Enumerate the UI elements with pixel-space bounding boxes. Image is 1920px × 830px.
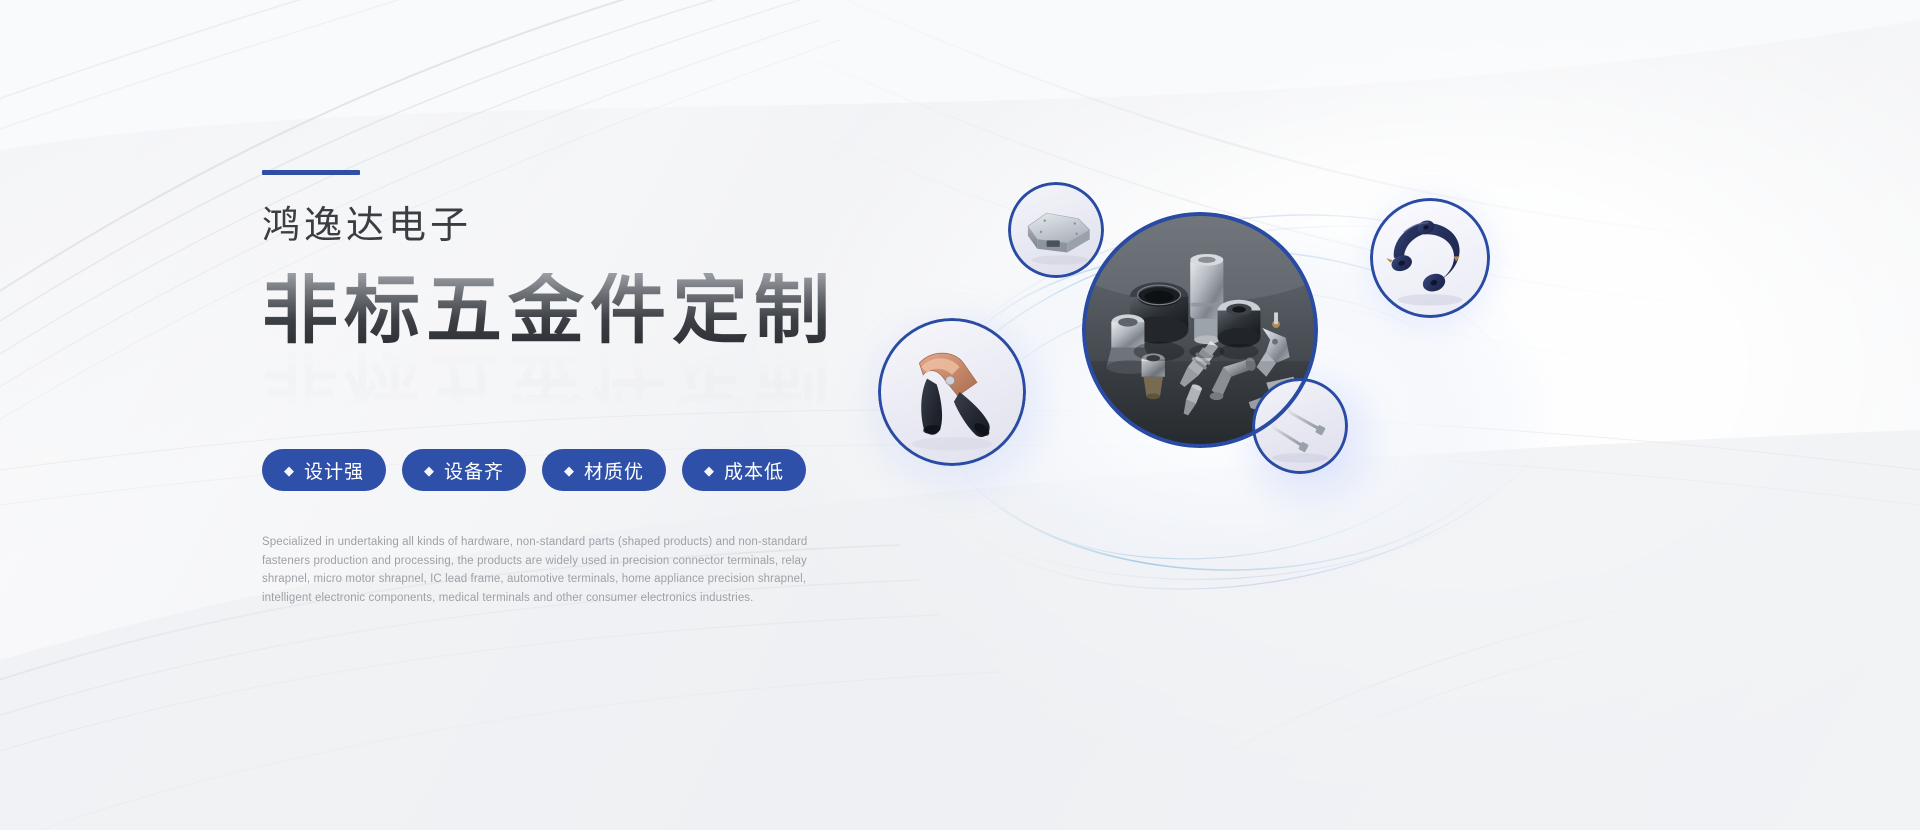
bent-terminal-pins-icon — [1255, 381, 1345, 471]
diamond-icon: ◆ — [564, 464, 575, 477]
feature-tag-material[interactable]: ◆ 材质优 — [542, 449, 666, 491]
headline-reflection: 非标五金件定制 — [262, 347, 836, 423]
banner-description: Specialized in undertaking all kinds of … — [262, 533, 822, 608]
feature-tag-design[interactable]: ◆ 设计强 — [262, 449, 386, 491]
brand-name: 鸿逸达电子 — [262, 207, 942, 245]
diamond-icon: ◆ — [424, 464, 435, 477]
feature-tag-cost[interactable]: ◆ 成本低 — [682, 449, 806, 491]
feature-tag-equipment[interactable]: ◆ 设备齐 — [402, 449, 526, 491]
feature-tag-label: 成本低 — [724, 457, 784, 484]
bubble-inner — [881, 321, 1023, 463]
product-bubble-bent-terminal-pins[interactable] — [1252, 378, 1348, 474]
retaining-ring-icon — [1373, 201, 1487, 315]
feature-tag-label: 设计强 — [304, 457, 364, 484]
product-showcase — [900, 110, 1920, 730]
feature-tag-label: 材质优 — [584, 457, 644, 484]
product-bubble-battery-clamp[interactable] — [878, 318, 1026, 466]
product-bubble-retaining-ring[interactable] — [1370, 198, 1490, 318]
bubble-inner — [1255, 381, 1345, 471]
diamond-icon: ◆ — [704, 464, 715, 477]
banner-content: 鸿逸达电子 非标五金件定制 非标五金件定制 ◆ 设计强 ◆ 设备齐 ◆ 材质优 … — [262, 170, 942, 608]
accent-bar — [262, 170, 360, 175]
feature-tag-label: 设备齐 — [444, 457, 504, 484]
diamond-icon: ◆ — [284, 464, 295, 477]
headline-block: 非标五金件定制 非标五金件定制 — [262, 273, 942, 401]
hero-banner: 鸿逸达电子 非标五金件定制 非标五金件定制 ◆ 设计强 ◆ 设备齐 ◆ 材质优 … — [0, 0, 1920, 830]
battery-clamp-icon — [881, 321, 1023, 463]
bubble-inner — [1373, 201, 1487, 315]
page-title: 非标五金件定制 — [262, 273, 942, 349]
feature-tag-list: ◆ 设计强 ◆ 设备齐 ◆ 材质优 ◆ 成本低 — [262, 449, 942, 491]
